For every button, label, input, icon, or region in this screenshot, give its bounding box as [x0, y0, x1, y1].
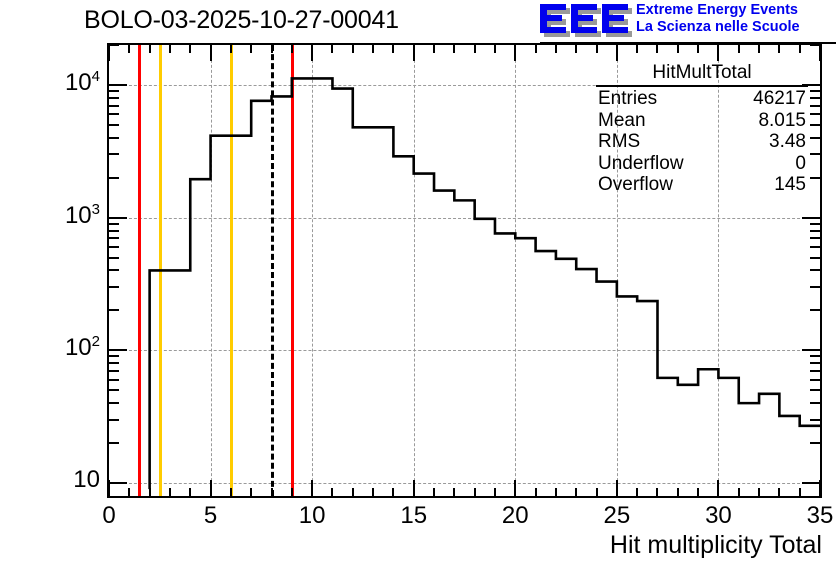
x-tick-minor-top: [149, 45, 151, 53]
x-tick-minor-top: [250, 45, 252, 53]
y-tick-major-right: [802, 349, 820, 351]
y-tick-minor: [109, 246, 119, 248]
x-tick-minor-top: [230, 45, 232, 53]
y-tick-minor-right: [810, 419, 820, 421]
plot-title: BOLO-03-2025-10-27-00041: [84, 6, 399, 35]
x-tick-minor: [555, 488, 557, 496]
x-tick-label: 0: [69, 502, 149, 530]
y-tick-minor: [109, 370, 119, 372]
x-tick-minor: [149, 488, 151, 496]
y-tick-minor-right: [810, 286, 820, 288]
x-tick-minor: [392, 488, 394, 496]
x-tick-minor: [230, 488, 232, 496]
x-axis-title: Hit multiplicity Total: [610, 531, 822, 560]
y-tick-minor: [109, 230, 119, 232]
eee-logo: Extreme Energy Events La Scienza nelle S…: [540, 2, 832, 42]
eee-logo-text: Extreme Energy Events La Scienza nelle S…: [636, 2, 836, 36]
y-tick-minor: [109, 137, 119, 139]
x-tick-minor-top: [128, 45, 130, 53]
x-tick-minor-top: [331, 45, 333, 53]
eee-logo-mark: [540, 4, 632, 38]
y-tick-label: 104: [0, 68, 108, 97]
x-tick-major-top: [717, 45, 719, 61]
x-tick-minor: [656, 488, 658, 496]
y-tick-minor-right: [810, 362, 820, 364]
stats-row: RMS3.48: [592, 131, 812, 153]
histogram-canvas: BOLO-03-2025-10-27-00041 Extreme Energy …: [0, 0, 836, 572]
stats-box: HitMultTotal Entries46217Mean8.015RMS3.4…: [592, 62, 812, 196]
stats-row: Underflow0: [592, 153, 812, 175]
x-tick-minor-top: [189, 45, 191, 53]
x-tick-major: [616, 480, 618, 496]
x-tick-minor-top: [291, 45, 293, 53]
x-tick-major-top: [311, 45, 313, 61]
stats-row: Mean8.015: [592, 110, 812, 132]
y-tick-minor: [109, 113, 119, 115]
x-tick-minor-top: [636, 45, 638, 53]
x-tick-major-top: [616, 45, 618, 61]
y-tick-minor: [109, 223, 119, 225]
x-tick-minor-top: [494, 45, 496, 53]
x-tick-minor: [169, 488, 171, 496]
x-tick-minor-top: [271, 45, 273, 53]
eee-logo-letters: [540, 4, 632, 38]
x-tick-minor-top: [596, 45, 598, 53]
x-tick-minor: [758, 488, 760, 496]
x-tick-minor: [291, 488, 293, 496]
x-tick-major-top: [210, 45, 212, 61]
x-tick-minor: [474, 488, 476, 496]
x-tick-minor-top: [697, 45, 699, 53]
x-tick-minor-top: [169, 45, 171, 53]
y-tick-minor: [109, 105, 119, 107]
y-tick-minor: [109, 257, 119, 259]
x-tick-label: 30: [678, 502, 758, 530]
y-tick-minor: [109, 269, 119, 271]
y-tick-minor: [109, 389, 119, 391]
x-tick-minor: [697, 488, 699, 496]
y-tick-minor: [109, 402, 119, 404]
x-tick-minor-top: [372, 45, 374, 53]
x-tick-minor-top: [656, 45, 658, 53]
y-tick-minor: [109, 442, 119, 444]
x-tick-minor: [778, 488, 780, 496]
x-tick-minor-top: [555, 45, 557, 53]
x-tick-minor: [352, 488, 354, 496]
y-tick-minor-right: [810, 257, 820, 259]
x-tick-minor-top: [392, 45, 394, 53]
y-tick-minor: [109, 309, 119, 311]
y-tick-minor-right: [810, 379, 820, 381]
y-tick-minor-right: [810, 246, 820, 248]
y-tick-minor: [109, 90, 119, 92]
x-tick-label: 25: [577, 502, 657, 530]
stats-value: 3.48: [769, 131, 806, 153]
eee-logo-line2: La Scienza nelle Scuole: [636, 19, 836, 36]
x-tick-minor: [494, 488, 496, 496]
y-tick-minor: [109, 355, 119, 357]
y-tick-minor-right: [810, 442, 820, 444]
x-tick-minor: [535, 488, 537, 496]
stats-row: Entries46217: [592, 88, 812, 110]
stats-value: 46217: [753, 88, 806, 110]
stats-row: Overflow145: [592, 174, 812, 196]
y-tick-minor-right: [810, 309, 820, 311]
y-tick-minor: [109, 97, 119, 99]
y-tick-major: [109, 84, 127, 86]
x-tick-major-top: [108, 45, 110, 61]
x-tick-minor-top: [453, 45, 455, 53]
x-tick-minor: [636, 488, 638, 496]
y-tick-major: [109, 217, 127, 219]
y-tick-minor: [109, 153, 119, 155]
y-tick-major: [109, 349, 127, 351]
x-tick-major: [210, 480, 212, 496]
x-tick-minor-top: [738, 45, 740, 53]
y-tick-label: 10: [0, 466, 108, 494]
y-tick-minor: [109, 237, 119, 239]
y-tick-minor-right: [810, 402, 820, 404]
x-tick-major: [413, 480, 415, 496]
stats-key: Entries: [598, 88, 657, 110]
x-tick-minor: [738, 488, 740, 496]
y-tick-minor: [109, 419, 119, 421]
x-tick-minor-top: [575, 45, 577, 53]
y-tick-label: 103: [0, 201, 108, 230]
y-tick-major-right: [802, 482, 820, 484]
stats-box-title: HitMultTotal: [596, 62, 808, 87]
y-tick-minor: [109, 177, 119, 179]
y-tick-major-right: [802, 217, 820, 219]
x-tick-label: 35: [780, 502, 836, 530]
x-tick-minor-top: [778, 45, 780, 53]
x-tick-minor-top: [352, 45, 354, 53]
x-tick-minor: [250, 488, 252, 496]
y-tick-minor-right: [810, 370, 820, 372]
y-tick-minor: [109, 362, 119, 364]
x-tick-minor-top: [758, 45, 760, 53]
y-tick-minor: [109, 124, 119, 126]
y-tick-minor-right: [810, 223, 820, 225]
y-tick-major: [109, 482, 127, 484]
y-tick-minor-right: [810, 44, 820, 46]
x-tick-label: 20: [475, 502, 555, 530]
stats-value: 145: [774, 174, 806, 196]
y-tick-minor-right: [810, 389, 820, 391]
y-tick-minor: [109, 379, 119, 381]
x-tick-major: [514, 480, 516, 496]
stats-key: RMS: [598, 131, 640, 153]
x-tick-minor: [596, 488, 598, 496]
y-tick-label: 102: [0, 333, 108, 362]
x-tick-major-top: [413, 45, 415, 61]
x-tick-label: 10: [272, 502, 352, 530]
x-tick-minor-top: [799, 45, 801, 53]
x-tick-label: 5: [171, 502, 251, 530]
stats-value: 0: [795, 153, 806, 175]
x-tick-minor: [575, 488, 577, 496]
x-tick-major-top: [819, 45, 821, 61]
x-tick-major: [311, 480, 313, 496]
x-tick-minor-top: [433, 45, 435, 53]
stats-rows: Entries46217Mean8.015RMS3.48Underflow0Ov…: [592, 88, 812, 196]
x-tick-minor: [677, 488, 679, 496]
x-tick-minor-top: [677, 45, 679, 53]
x-tick-minor: [433, 488, 435, 496]
x-tick-major: [717, 480, 719, 496]
x-tick-minor-top: [474, 45, 476, 53]
y-tick-minor-right: [810, 269, 820, 271]
x-tick-minor: [189, 488, 191, 496]
stats-key: Underflow: [598, 153, 684, 175]
x-tick-minor: [799, 488, 801, 496]
x-tick-minor-top: [535, 45, 537, 53]
x-tick-label: 15: [374, 502, 454, 530]
y-tick-minor: [109, 286, 119, 288]
x-tick-major-top: [514, 45, 516, 61]
x-tick-minor: [128, 488, 130, 496]
y-tick-minor-right: [810, 237, 820, 239]
eee-logo-line1: Extreme Energy Events: [636, 2, 836, 19]
y-tick-minor-right: [810, 230, 820, 232]
y-tick-minor-right: [810, 355, 820, 357]
x-tick-minor: [271, 488, 273, 496]
stats-value: 8.015: [758, 110, 806, 132]
y-tick-minor: [109, 44, 119, 46]
stats-key: Mean: [598, 110, 646, 132]
x-tick-minor: [372, 488, 374, 496]
x-tick-minor: [331, 488, 333, 496]
stats-key: Overflow: [598, 174, 673, 196]
x-tick-minor: [453, 488, 455, 496]
